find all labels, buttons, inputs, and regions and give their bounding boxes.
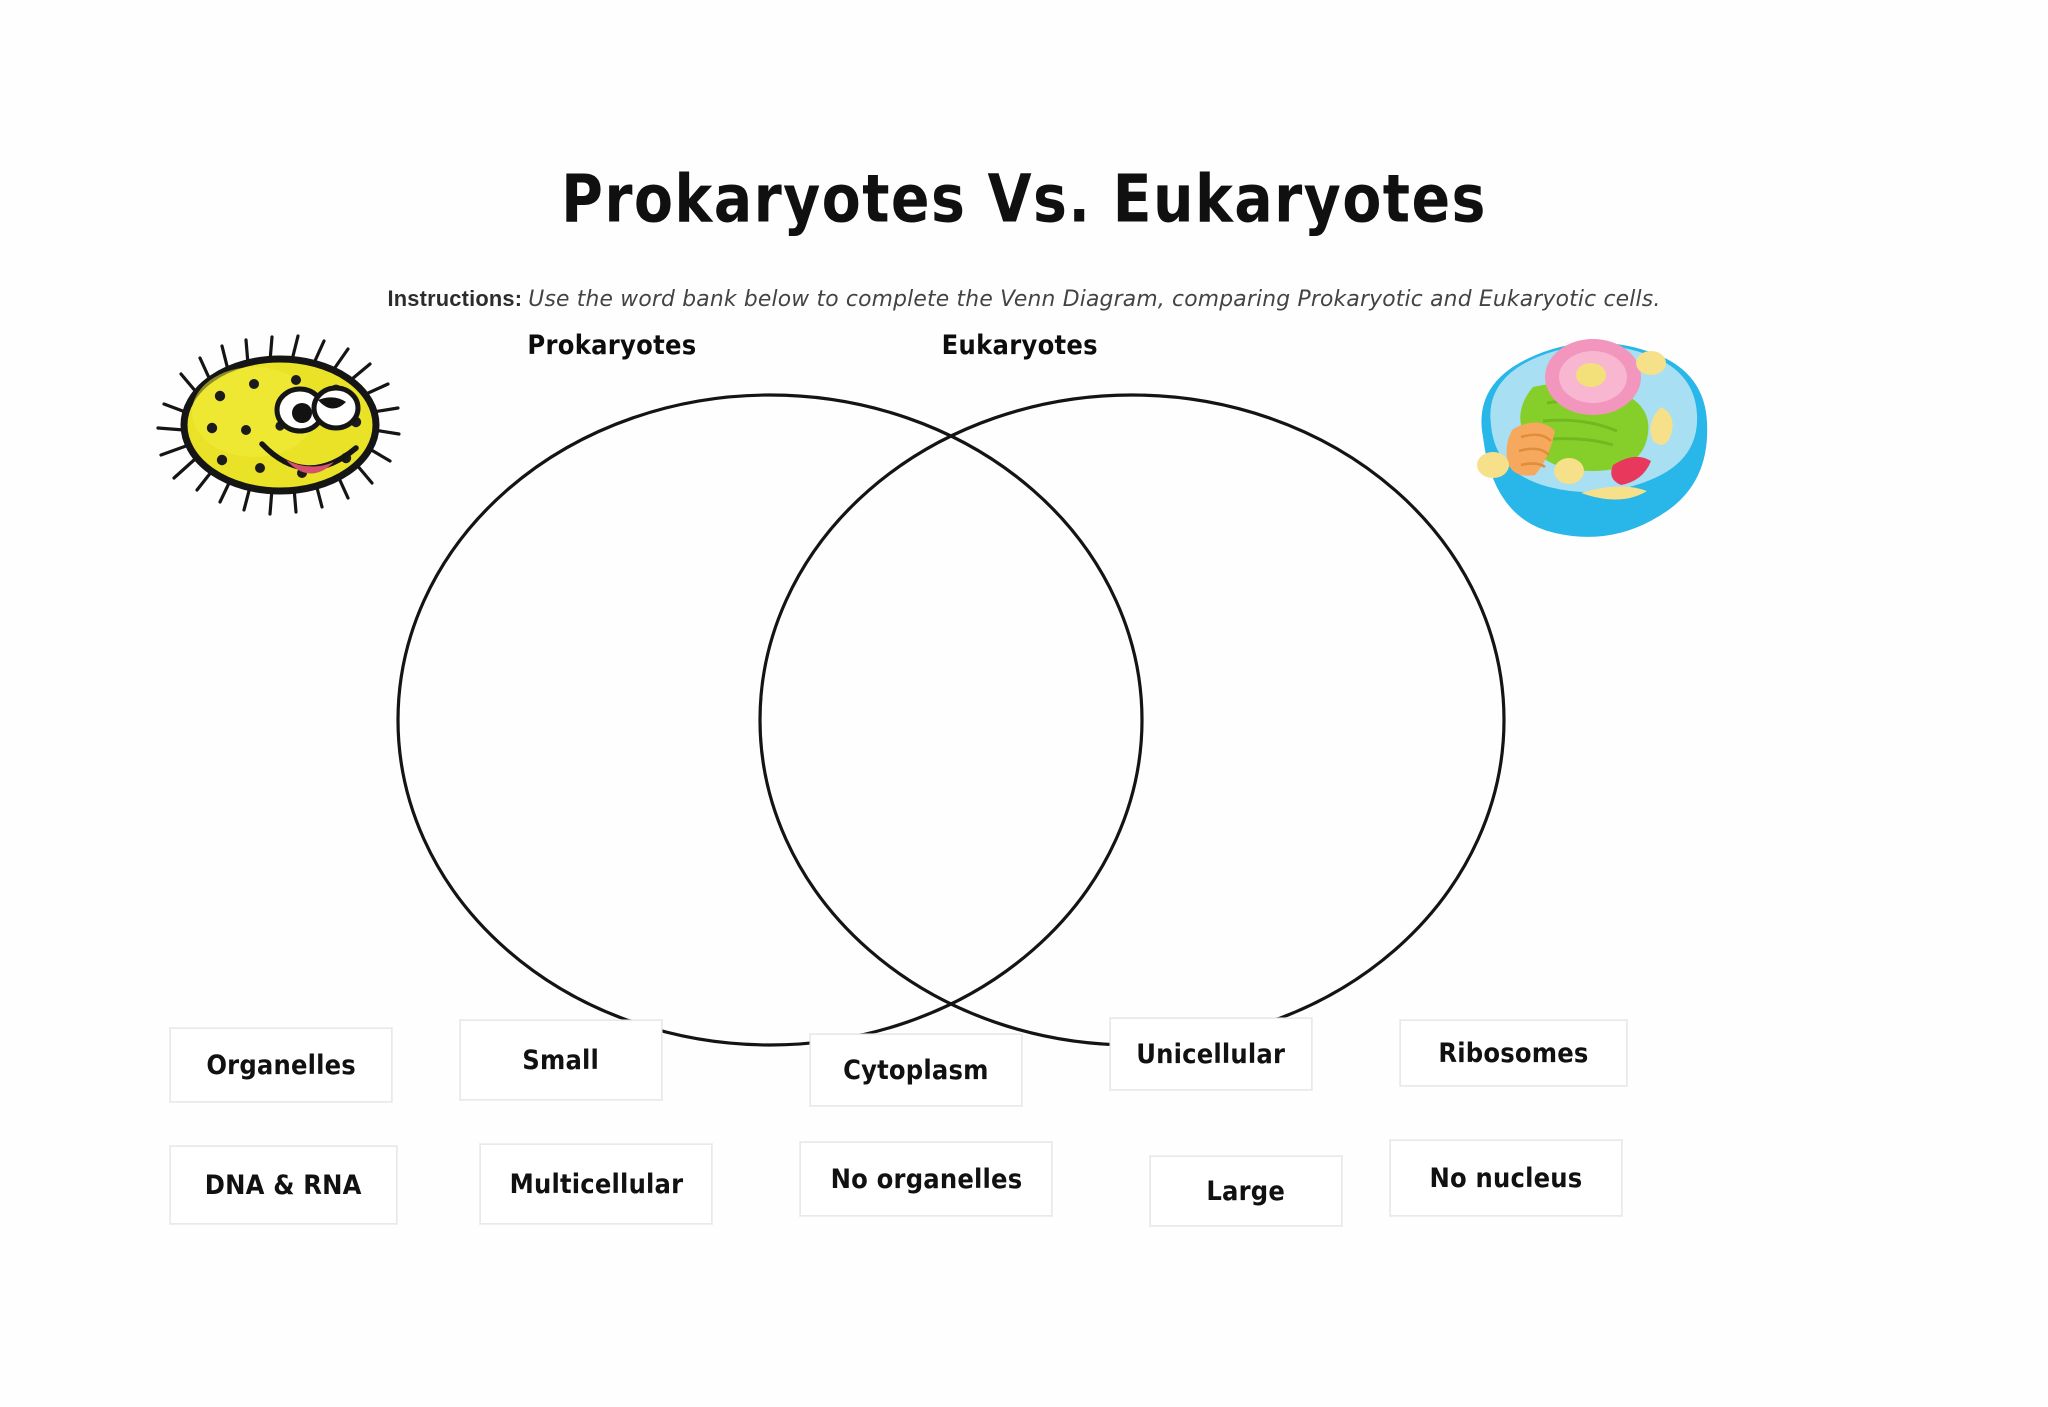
word-card-no-organelles[interactable]: No organelles [800,1142,1052,1216]
word-card-label: Large [1207,1176,1286,1207]
bacteria-eyes [277,388,358,431]
word-card-multicellular[interactable]: Multicellular [480,1144,712,1224]
word-card-dna-and-rna[interactable]: DNA & RNA [170,1146,397,1224]
word-card-small[interactable]: Small [460,1020,662,1100]
word-card-label: Organelles [206,1050,356,1081]
word-card-label: Ribosomes [1438,1038,1588,1069]
word-bank: Organelles Small Cytoplasm Unicellular R… [0,1018,2048,1278]
word-card-label: No organelles [830,1164,1022,1195]
word-card-large[interactable]: Large [1150,1156,1342,1226]
word-card-organelles[interactable]: Organelles [170,1028,392,1102]
prokaryote-bacteria-image [150,318,410,548]
word-card-label: DNA & RNA [205,1170,362,1201]
word-card-cytoplasm[interactable]: Cytoplasm [810,1034,1022,1106]
venn-label-prokaryotes: Prokaryotes [527,330,696,361]
word-card-ribosomes[interactable]: Ribosomes [1400,1020,1627,1086]
venn-circle-eukaryotes [760,395,1504,1045]
word-card-no-nucleus[interactable]: No nucleus [1390,1140,1622,1216]
instructions-text: Use the word bank below to complete the … [528,286,1660,312]
eukaryote-animal-cell-image [1455,325,1720,545]
page-title: Prokaryotes Vs. Eukaryotes [82,160,1966,237]
nucleolus [1576,363,1606,387]
instructions-line: Instructions: Use the word bank below to… [31,286,2018,312]
word-card-label: Small [523,1045,600,1076]
instructions-label: Instructions: [387,286,522,311]
word-card-label: Unicellular [1137,1039,1286,1070]
word-card-label: No nucleus [1430,1163,1583,1194]
venn-label-eukaryotes: Eukaryotes [942,330,1098,361]
word-card-label: Cytoplasm [843,1055,989,1086]
word-card-unicellular[interactable]: Unicellular [1110,1018,1312,1090]
word-card-label: Multicellular [509,1169,683,1200]
worksheet-page: Prokaryotes Vs. Eukaryotes Instructions:… [0,0,2048,1407]
venn-circle-prokaryotes [398,395,1142,1045]
venn-diagram: Prokaryotes Eukaryotes [380,330,1520,1050]
